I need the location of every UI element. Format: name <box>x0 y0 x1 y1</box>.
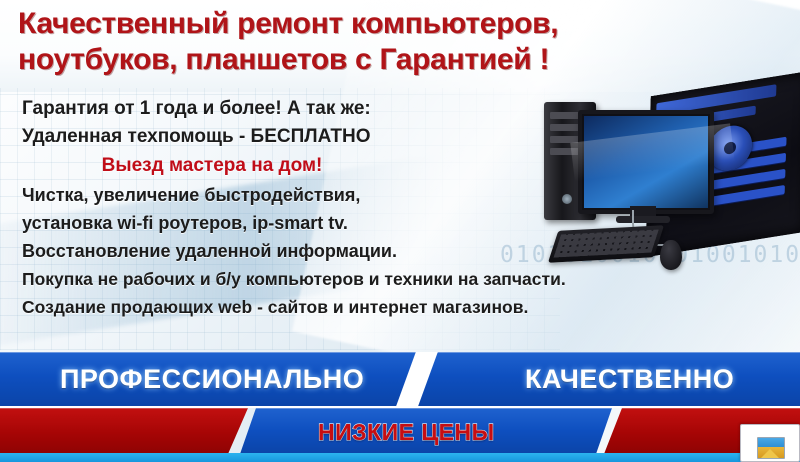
banner-cyan-strip <box>0 453 800 462</box>
body-line-guarantee: Гарантия от 1 года и более! А так же: <box>22 95 582 123</box>
service-line-cleaning: Чистка, увеличение быстродействия, <box>22 181 582 209</box>
mouse-icon <box>660 240 682 270</box>
service-copy: Гарантия от 1 года и более! А так же: Уд… <box>22 95 582 321</box>
picture-icon <box>757 437 785 459</box>
banner-caption-low-prices: НИЗКИЕ ЦЕНЫ <box>318 418 495 446</box>
page-title: Качественный ремонт компьютеров, ноутбук… <box>18 6 708 78</box>
broken-image-placeholder-icon <box>740 424 800 462</box>
banner-bottom-row: НИЗКИЕ ЦЕНЫ <box>0 408 800 454</box>
headline-line-2: ноутбуков, планшетов с Гарантией ! <box>18 42 708 78</box>
bottom-banner: ПРОФЕССИОНАЛЬНО КАЧЕСТВЕННО НИЗКИЕ ЦЕНЫ <box>0 352 800 462</box>
banner-caption-quality: КАЧЕСТВЕННО <box>525 362 734 396</box>
headline-line-1: Качественный ремонт компьютеров, <box>18 7 558 40</box>
service-line-recovery: Восстановление удаленной информации. <box>22 237 582 265</box>
banner-caption-professional: ПРОФЕССИОНАЛЬНО <box>60 362 364 396</box>
banner-red-left <box>0 408 248 454</box>
highlight-line-onsite: Выезд мастера на дом! <box>22 151 402 181</box>
monitor-icon <box>578 110 714 214</box>
service-line-wifi: установка wi-fi роутеров, ip-smart tv. <box>22 209 582 237</box>
service-line-buyout: Покупка не рабочих и б/у компьютеров и т… <box>22 265 582 293</box>
computer-hardware-photo <box>520 88 800 270</box>
body-line-remote-help: Удаленная техпомощь - БЕСПЛАТНО <box>22 123 582 151</box>
service-line-websites: Создание продающих web - сайтов и интерн… <box>22 293 582 321</box>
advertisement-banner: 010101001010100101010 Качественный ремон… <box>0 0 800 462</box>
keyboard-icon <box>548 225 664 262</box>
